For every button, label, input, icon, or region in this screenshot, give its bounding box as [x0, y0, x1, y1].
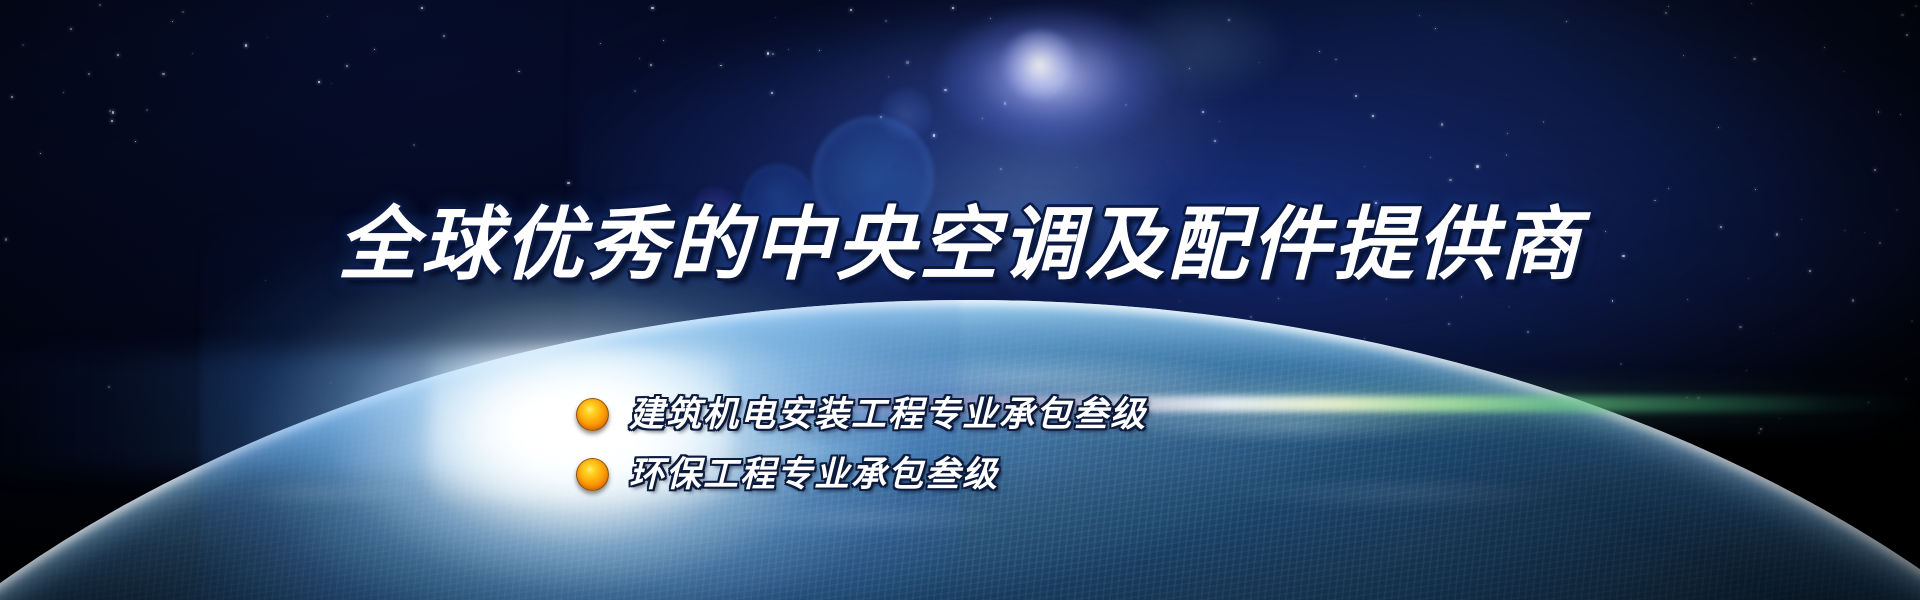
bullet-dot-icon [576, 398, 609, 431]
bullet-item-label: 环保工程专业承包叁级 [629, 457, 999, 492]
banner-headline: 全球优秀的中央空调及配件提供商 [0, 205, 1920, 285]
bullet-item: 环保工程专业承包叁级 [576, 444, 1147, 504]
bullet-dot-icon [576, 458, 609, 491]
banner-content: 全球优秀的中央空调及配件提供商 建筑机电安装工程专业承包叁级 环保工程专业承包叁… [0, 0, 1920, 600]
bullet-item: 建筑机电安装工程专业承包叁级 [576, 384, 1147, 444]
bullet-item-label: 建筑机电安装工程专业承包叁级 [629, 397, 1147, 432]
banner-bullet-list: 建筑机电安装工程专业承包叁级 环保工程专业承包叁级 [576, 384, 1147, 504]
hero-banner: 全球优秀的中央空调及配件提供商 建筑机电安装工程专业承包叁级 环保工程专业承包叁… [0, 0, 1920, 600]
